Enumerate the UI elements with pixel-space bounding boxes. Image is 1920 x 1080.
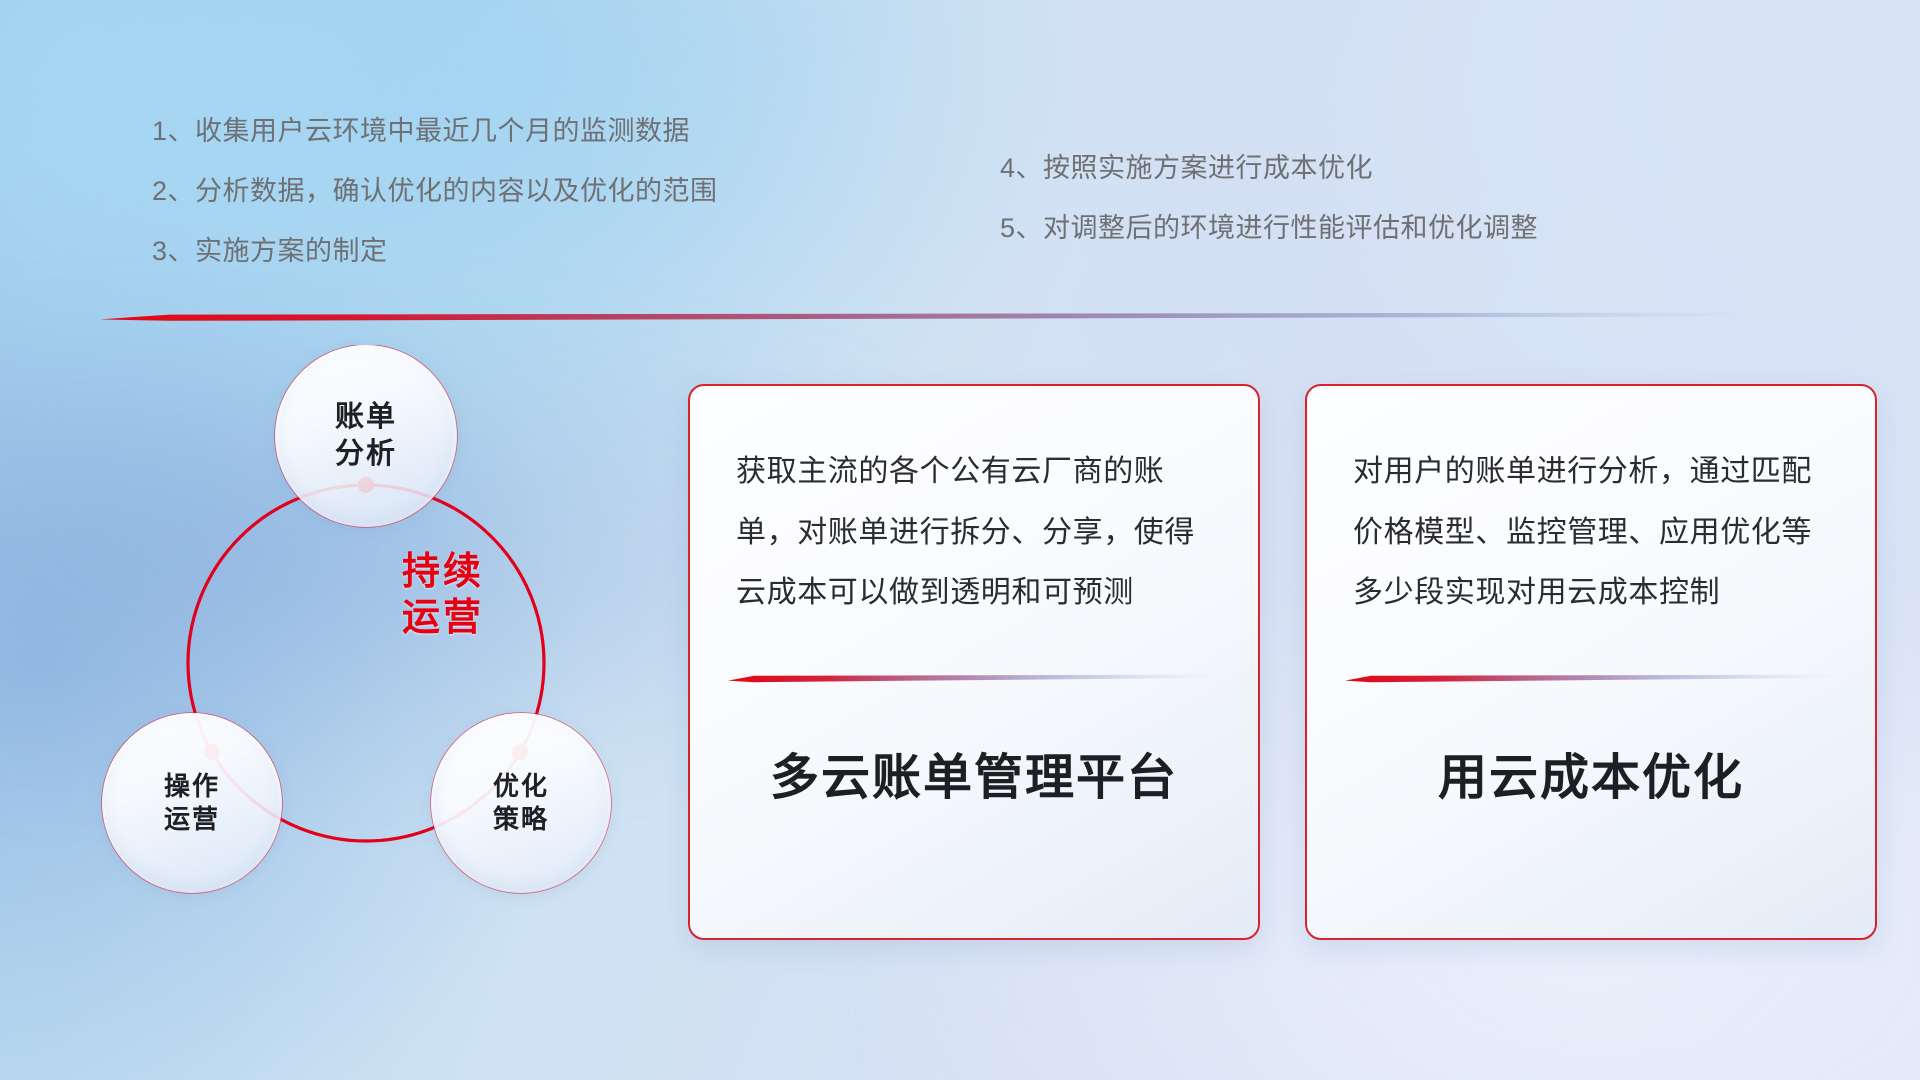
card-multicloud-billing-platform[interactable]: 获取主流的各个公有云厂商的账单，对账单进行拆分、分享，使得云成本可以做到透明和可… [688, 384, 1260, 940]
step-item: 2、分析数据，确认优化的内容以及优化的范围 [152, 178, 718, 205]
card-divider [1345, 674, 1837, 683]
step-item: 4、按照实施方案进行成本优化 [1000, 155, 1538, 182]
venn-bubble-operations[interactable]: 操作 运营 [102, 713, 282, 893]
core-label-line1: 持续 [343, 549, 543, 595]
bubble-label-line1: 账单 [335, 399, 397, 436]
step-item: 3、实施方案的制定 [152, 238, 718, 265]
steps-right-column: 4、按照实施方案进行成本优化 5、对调整后的环境进行性能评估和优化调整 [1000, 155, 1538, 242]
slide-canvas: 1、收集用户云环境中最近几个月的监测数据 2、分析数据，确认优化的内容以及优化的… [0, 0, 1920, 1080]
bubble-label-line1: 操作 [164, 770, 220, 803]
steps-left-column: 1、收集用户云环境中最近几个月的监测数据 2、分析数据，确认优化的内容以及优化的… [152, 118, 718, 265]
card-cloud-cost-optimization[interactable]: 对用户的账单进行分析，通过匹配价格模型、监控管理、应用优化等多少段实现对用云成本… [1305, 384, 1877, 940]
section-divider [100, 312, 1760, 322]
venn-bubble-billing-analysis[interactable]: 账单 分析 [275, 345, 457, 527]
card-body-text: 获取主流的各个公有云厂商的账单，对账单进行拆分、分享，使得云成本可以做到透明和可… [736, 442, 1220, 624]
bubble-label-line2: 分析 [335, 436, 397, 473]
bubble-label-line1: 优化 [493, 770, 549, 803]
card-body-text: 对用户的账单进行分析，通过匹配价格模型、监控管理、应用优化等多少段实现对用云成本… [1353, 442, 1837, 624]
venn-diagram: 账单 分析 操作 运营 优化 策略 持续 运营 [95, 345, 655, 950]
core-label-line2: 运营 [343, 595, 543, 641]
card-title: 多云账单管理平台 [690, 738, 1258, 809]
card-title: 用云成本优化 [1307, 738, 1875, 809]
venn-core-label: 持续 运营 [343, 549, 543, 642]
venn-bubble-optimization-strategy[interactable]: 优化 策略 [431, 713, 611, 893]
bubble-label-line2: 策略 [493, 803, 549, 836]
step-item: 1、收集用户云环境中最近几个月的监测数据 [152, 118, 718, 145]
card-divider [728, 674, 1220, 683]
bubble-label-line2: 运营 [164, 803, 220, 836]
step-item: 5、对调整后的环境进行性能评估和优化调整 [1000, 215, 1538, 242]
